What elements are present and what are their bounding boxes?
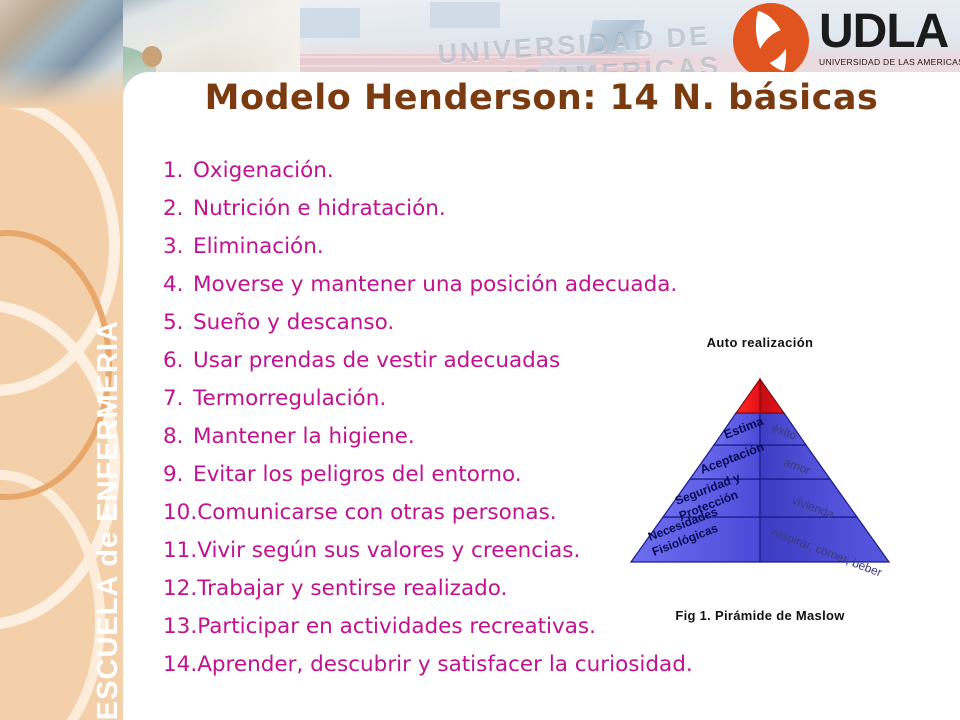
list-item-text: Usar prendas de vestir adecuadas	[193, 350, 560, 372]
list-item-number: 8.	[163, 426, 193, 448]
list-item-text: Termorregulación.	[193, 388, 386, 410]
list-item-text: Mantener la higiene.	[193, 426, 415, 448]
udla-wordmark: UDLA	[819, 10, 960, 54]
figure-caption: Fig 1. Pirámide de Maslow	[595, 608, 925, 623]
list-item-number: 6.	[163, 350, 193, 372]
list-item-number: 11.	[163, 540, 197, 562]
sidebar-vertical-label: ESCUELA de ENFERMERIA	[0, 0, 123, 720]
list-item: 1.Oxigenación.	[163, 160, 803, 198]
list-item: 2.Nutrición e hidratación.	[163, 198, 803, 236]
list-item: 14.Aprender, descubrir y satisfacer la c…	[163, 654, 803, 692]
udla-logo-text: UDLA UNIVERSIDAD DE LAS AMERICAS	[819, 3, 960, 67]
list-item-number: 10.	[163, 502, 197, 524]
list-item-number: 9.	[163, 464, 193, 486]
list-item-number: 4.	[163, 274, 193, 296]
list-item-number: 5.	[163, 312, 193, 334]
list-item-number: 14.	[163, 654, 197, 676]
list-item: 4.Moverse y mantener una posición adecua…	[163, 274, 803, 312]
maslow-pyramid-figure: Auto realización	[595, 335, 955, 625]
list-item-text: Oxigenación.	[193, 160, 334, 182]
list-item-number: 2.	[163, 198, 193, 220]
left-sidebar: ESCUELA de ENFERMERIA	[0, 0, 123, 720]
list-item-text: Evitar los peligros del entorno.	[193, 464, 522, 486]
banner-window-2	[430, 2, 500, 28]
list-item-number: 1.	[163, 160, 193, 182]
list-item-text: Participar en actividades recreativas.	[197, 616, 596, 638]
list-item-text: Vivir según sus valores y creencias.	[197, 540, 580, 562]
list-item: 3.Eliminación.	[163, 236, 803, 274]
list-item-text: Eliminación.	[193, 236, 324, 258]
list-item-text: Comunicarse con otras personas.	[197, 502, 556, 524]
list-item-text: Sueño y descanso.	[193, 312, 394, 334]
list-item-number: 7.	[163, 388, 193, 410]
udla-tagline: UNIVERSIDAD DE LAS AMERICAS	[819, 57, 960, 67]
pyramid-top-label: Auto realización	[595, 335, 925, 350]
list-item-number: 12.	[163, 578, 197, 600]
sidebar-label-text: ESCUELA de ENFERMERIA	[86, 310, 123, 720]
udla-logo: UDLA UNIVERSIDAD DE LAS AMERICAS	[733, 3, 960, 81]
banner-window-1	[300, 8, 360, 38]
list-item-text: Moverse y mantener una posición adecuada…	[193, 274, 677, 296]
list-item-text: Trabajar y sentirse realizado.	[197, 578, 507, 600]
page-title: Modelo Henderson: 14 N. básicas	[123, 78, 960, 118]
list-item-number: 3.	[163, 236, 193, 258]
list-item-text: Aprender, descubrir y satisfacer la curi…	[197, 654, 693, 676]
pyramid-graphic: Estima Aceptación Seguridad y Protección…	[595, 357, 935, 597]
list-item-text: Nutrición e hidratación.	[193, 198, 446, 220]
slide-root: UNIVERSIDAD DE LAS AMERICAS UDLA UNIVERS…	[0, 0, 960, 720]
udla-flame-icon	[733, 3, 809, 79]
list-item-number: 13.	[163, 616, 197, 638]
banner-patient-head	[142, 46, 162, 67]
